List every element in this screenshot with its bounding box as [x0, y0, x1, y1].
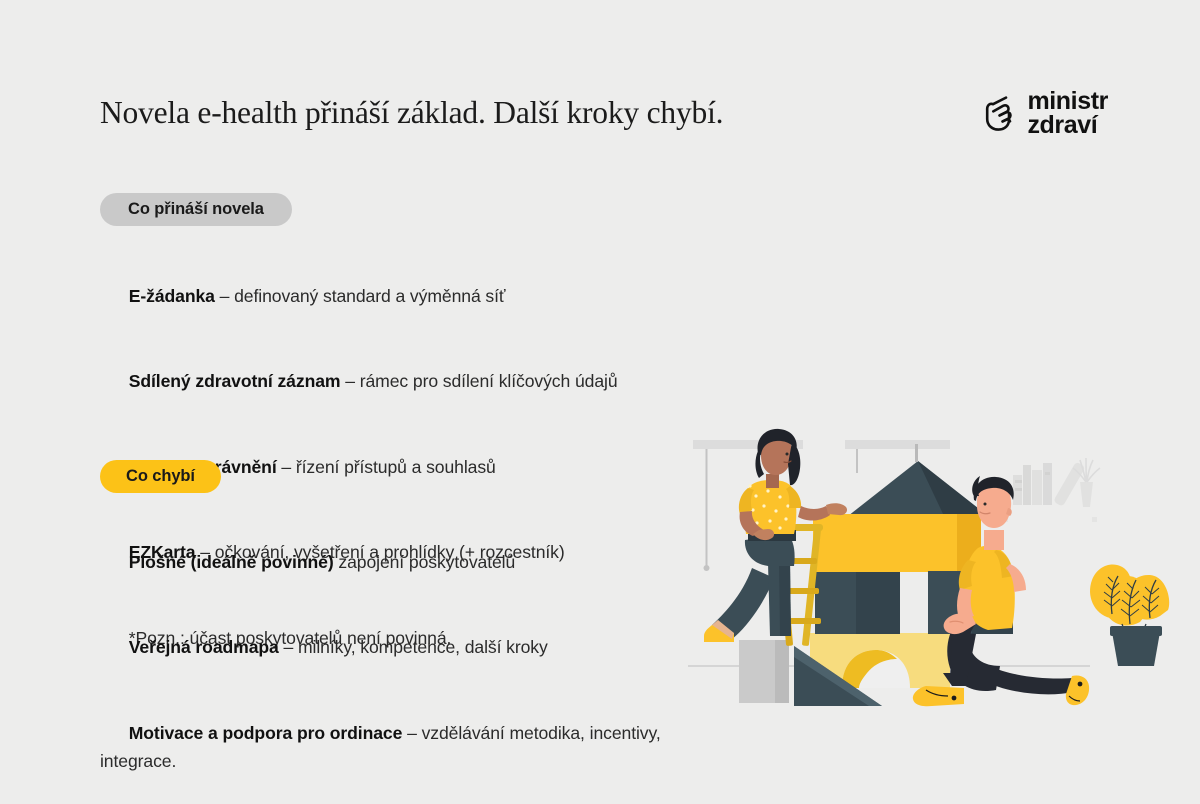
- list-item-desc: – milníky, kompetence, další kroky: [279, 637, 548, 657]
- list-item: Motivace a podpora pro ordinace – vzdělá…: [100, 690, 680, 804]
- hand-tap-icon: [981, 93, 1017, 133]
- list-item-term: Motivace a podpora pro ordinace: [129, 723, 403, 743]
- potted-plant: [1090, 565, 1169, 666]
- list-item-desc: – rámec pro sdílení klíčových údajů: [340, 371, 617, 391]
- logo-wordmark: ministr zdraví: [1027, 89, 1108, 137]
- list-item: Veřejná roadmapa – milníky, kompetence, …: [100, 605, 680, 691]
- logo: ministr zdraví: [981, 89, 1108, 137]
- logo-line-2: zdraví: [1027, 113, 1108, 137]
- list-item-desc: – řízení přístupů a souhlasů: [277, 457, 496, 477]
- block-house-roof: [848, 444, 988, 516]
- list-item: Plošné (ideálně povinné) zapojení poskyt…: [100, 519, 680, 605]
- page-title: Novela e-health přináší základ. Další kr…: [100, 90, 723, 136]
- list-item: E-žádanka – definovaný standard a výměnn…: [100, 253, 675, 339]
- list-item-term: Sdílený zdravotní záznam: [129, 371, 341, 391]
- block-house-yellow-band: [813, 514, 981, 572]
- list-item-desc: – definovaný standard a výměnná síť: [215, 286, 506, 306]
- infographic-page: Novela e-health přináší základ. Další kr…: [0, 0, 1200, 800]
- list-item: Sdílený zdravotní záznam – rámec pro sdí…: [100, 339, 675, 425]
- list-item-desc: zapojení poskytovatelů: [334, 552, 516, 572]
- list-item-term: E-žádanka: [129, 286, 215, 306]
- text-block-co-chybi: Plošné (ideálně povinné) zapojení poskyt…: [100, 519, 680, 804]
- illustration-two-people-building-block-house: [660, 418, 1200, 740]
- logo-line-1: ministr: [1027, 89, 1108, 113]
- header: Novela e-health přináší základ. Další kr…: [0, 90, 1200, 160]
- list-item-term: Plošné (ideálně povinné): [129, 552, 334, 572]
- gray-cube: [739, 640, 789, 703]
- badge-co-chybi: Co chybí: [100, 460, 221, 493]
- badge-co-prinasi-novela: Co přináší novela: [100, 193, 292, 226]
- list-item-term: Veřejná roadmapa: [129, 637, 279, 657]
- books-vase-decor: [1003, 458, 1100, 522]
